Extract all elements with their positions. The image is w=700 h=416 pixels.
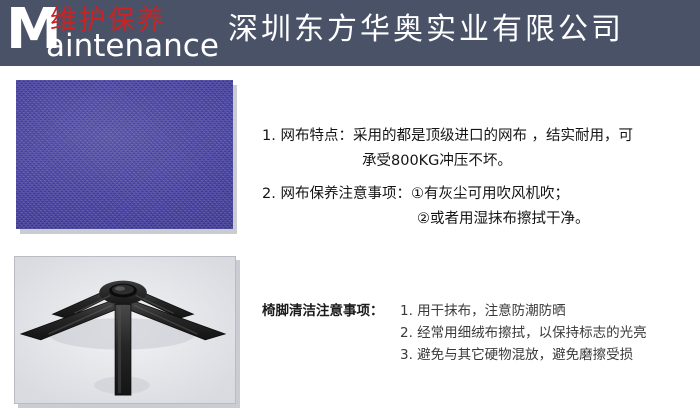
mesh-note-2-line-1: 2. 网布保养注意事项：①有灰尘可用吹风机吹；: [262, 182, 694, 207]
mesh-note-item-2: 2. 网布保养注意事项：①有灰尘可用吹风机吹； ②或者用湿抹布擦拭干净。: [262, 182, 694, 232]
chair-base-image: [14, 256, 236, 404]
mesh-fabric-image: [16, 80, 233, 229]
mesh-note-2-line-2: ②或者用湿抹布擦拭干净。: [262, 207, 694, 232]
page-header-band: M 维护保养 aintenance 深圳东方华奥实业有限公司: [0, 0, 700, 66]
leg-care-title: 椅脚清洁注意事项：: [262, 300, 384, 322]
company-name: 深圳东方华奥实业有限公司: [228, 8, 624, 52]
brand-english-title: aintenance: [46, 31, 219, 62]
leg-care-item-2: 2. 经常用细绒布擦拭，以保持标志的光亮: [400, 322, 694, 344]
leg-care-item-1: 1. 用干抹布，注意防潮防晒: [400, 300, 694, 322]
mesh-note-item-1: 1. 网布特点：采用的都是顶级进口的网布 ，结实耐用，可 承受800KG冲压不坏…: [262, 124, 694, 174]
mesh-note-1-line-2: 承受800KG冲压不坏。: [262, 149, 694, 174]
brand-lockup: M 维护保养 aintenance: [4, 2, 220, 64]
leg-care-list: 1. 用干抹布，注意防潮防晒 2. 经常用细绒布擦拭，以保持标志的光亮 3. 避…: [400, 300, 694, 366]
leg-care-item-3: 3. 避免与其它硬物混放，避免磨擦受损: [400, 344, 694, 366]
mesh-fabric-sheen: [16, 80, 233, 229]
mesh-care-notes: 1. 网布特点：采用的都是顶级进口的网布 ，结实耐用，可 承受800KG冲压不坏…: [262, 124, 694, 240]
mesh-note-1-line-1: 1. 网布特点：采用的都是顶级进口的网布 ，结实耐用，可: [262, 124, 694, 149]
chair-base-illustration: [15, 257, 235, 403]
